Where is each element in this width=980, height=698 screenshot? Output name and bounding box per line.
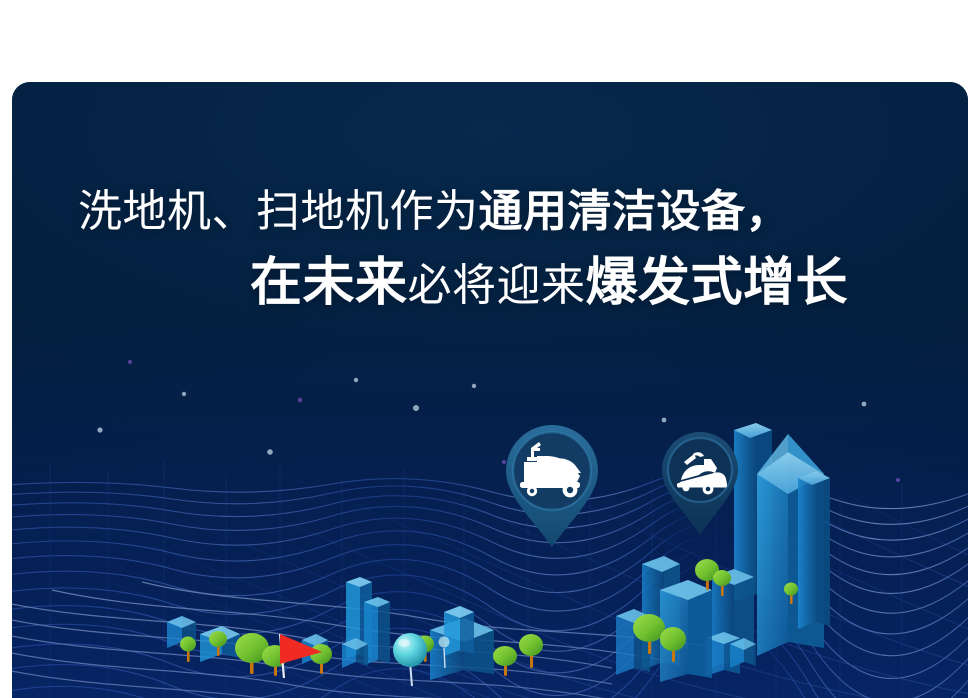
tree: [180, 637, 196, 663]
house-right-small: [342, 638, 368, 668]
building-center-slab: [444, 606, 474, 656]
page-root: 洗地机、扫地机作为通用清洁设备， 在未来必将迎来爆发式增长: [0, 0, 980, 698]
tree: [493, 646, 517, 676]
hero-banner: 洗地机、扫地机作为通用清洁设备， 在未来必将迎来爆发式增长: [12, 82, 968, 698]
city-scene: [12, 82, 968, 698]
building-right-slim: [798, 471, 830, 629]
sweeper-pin[interactable]: [662, 432, 738, 535]
tree: [519, 634, 543, 668]
cyan-sphere-icon: [393, 633, 427, 686]
house-far-right-small: [730, 638, 756, 668]
ride-on-scrubber-pin[interactable]: [506, 425, 598, 560]
